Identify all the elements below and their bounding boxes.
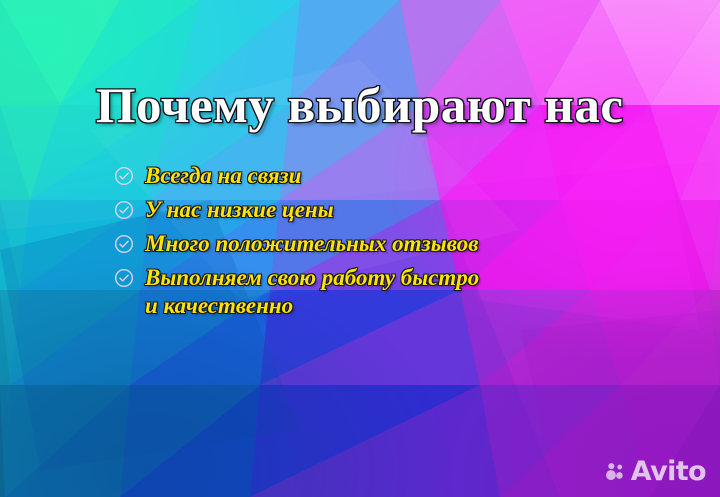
check-circle-icon bbox=[114, 268, 134, 288]
avito-dots-icon bbox=[604, 461, 626, 483]
promo-poster: Почему выбирают нас Всегда на связи У на… bbox=[0, 0, 720, 497]
list-item: Всегда на связи bbox=[114, 162, 479, 190]
title-container: Почему выбирают нас bbox=[0, 46, 720, 163]
list-item: Много положительных отзывов bbox=[114, 230, 479, 258]
check-circle-icon bbox=[114, 234, 134, 254]
benefits-list: Всегда на связи У нас низкие цены Много … bbox=[114, 162, 479, 326]
page-title: Почему выбирают нас bbox=[96, 80, 624, 130]
list-item-label: Всегда на связи bbox=[145, 162, 301, 190]
list-item: У нас низкие цены bbox=[114, 196, 479, 224]
avito-watermark: Avito bbox=[604, 458, 706, 485]
list-item-label: Много положительных отзывов bbox=[145, 230, 478, 258]
list-item: Выполняем свою работу быстро и качествен… bbox=[114, 264, 479, 320]
list-item-label: Выполняем свою работу быстро и качествен… bbox=[145, 264, 479, 320]
avito-wordmark: Avito bbox=[631, 458, 706, 485]
check-circle-icon bbox=[114, 166, 134, 186]
check-circle-icon bbox=[114, 200, 134, 220]
list-item-label: У нас низкие цены bbox=[145, 196, 334, 224]
